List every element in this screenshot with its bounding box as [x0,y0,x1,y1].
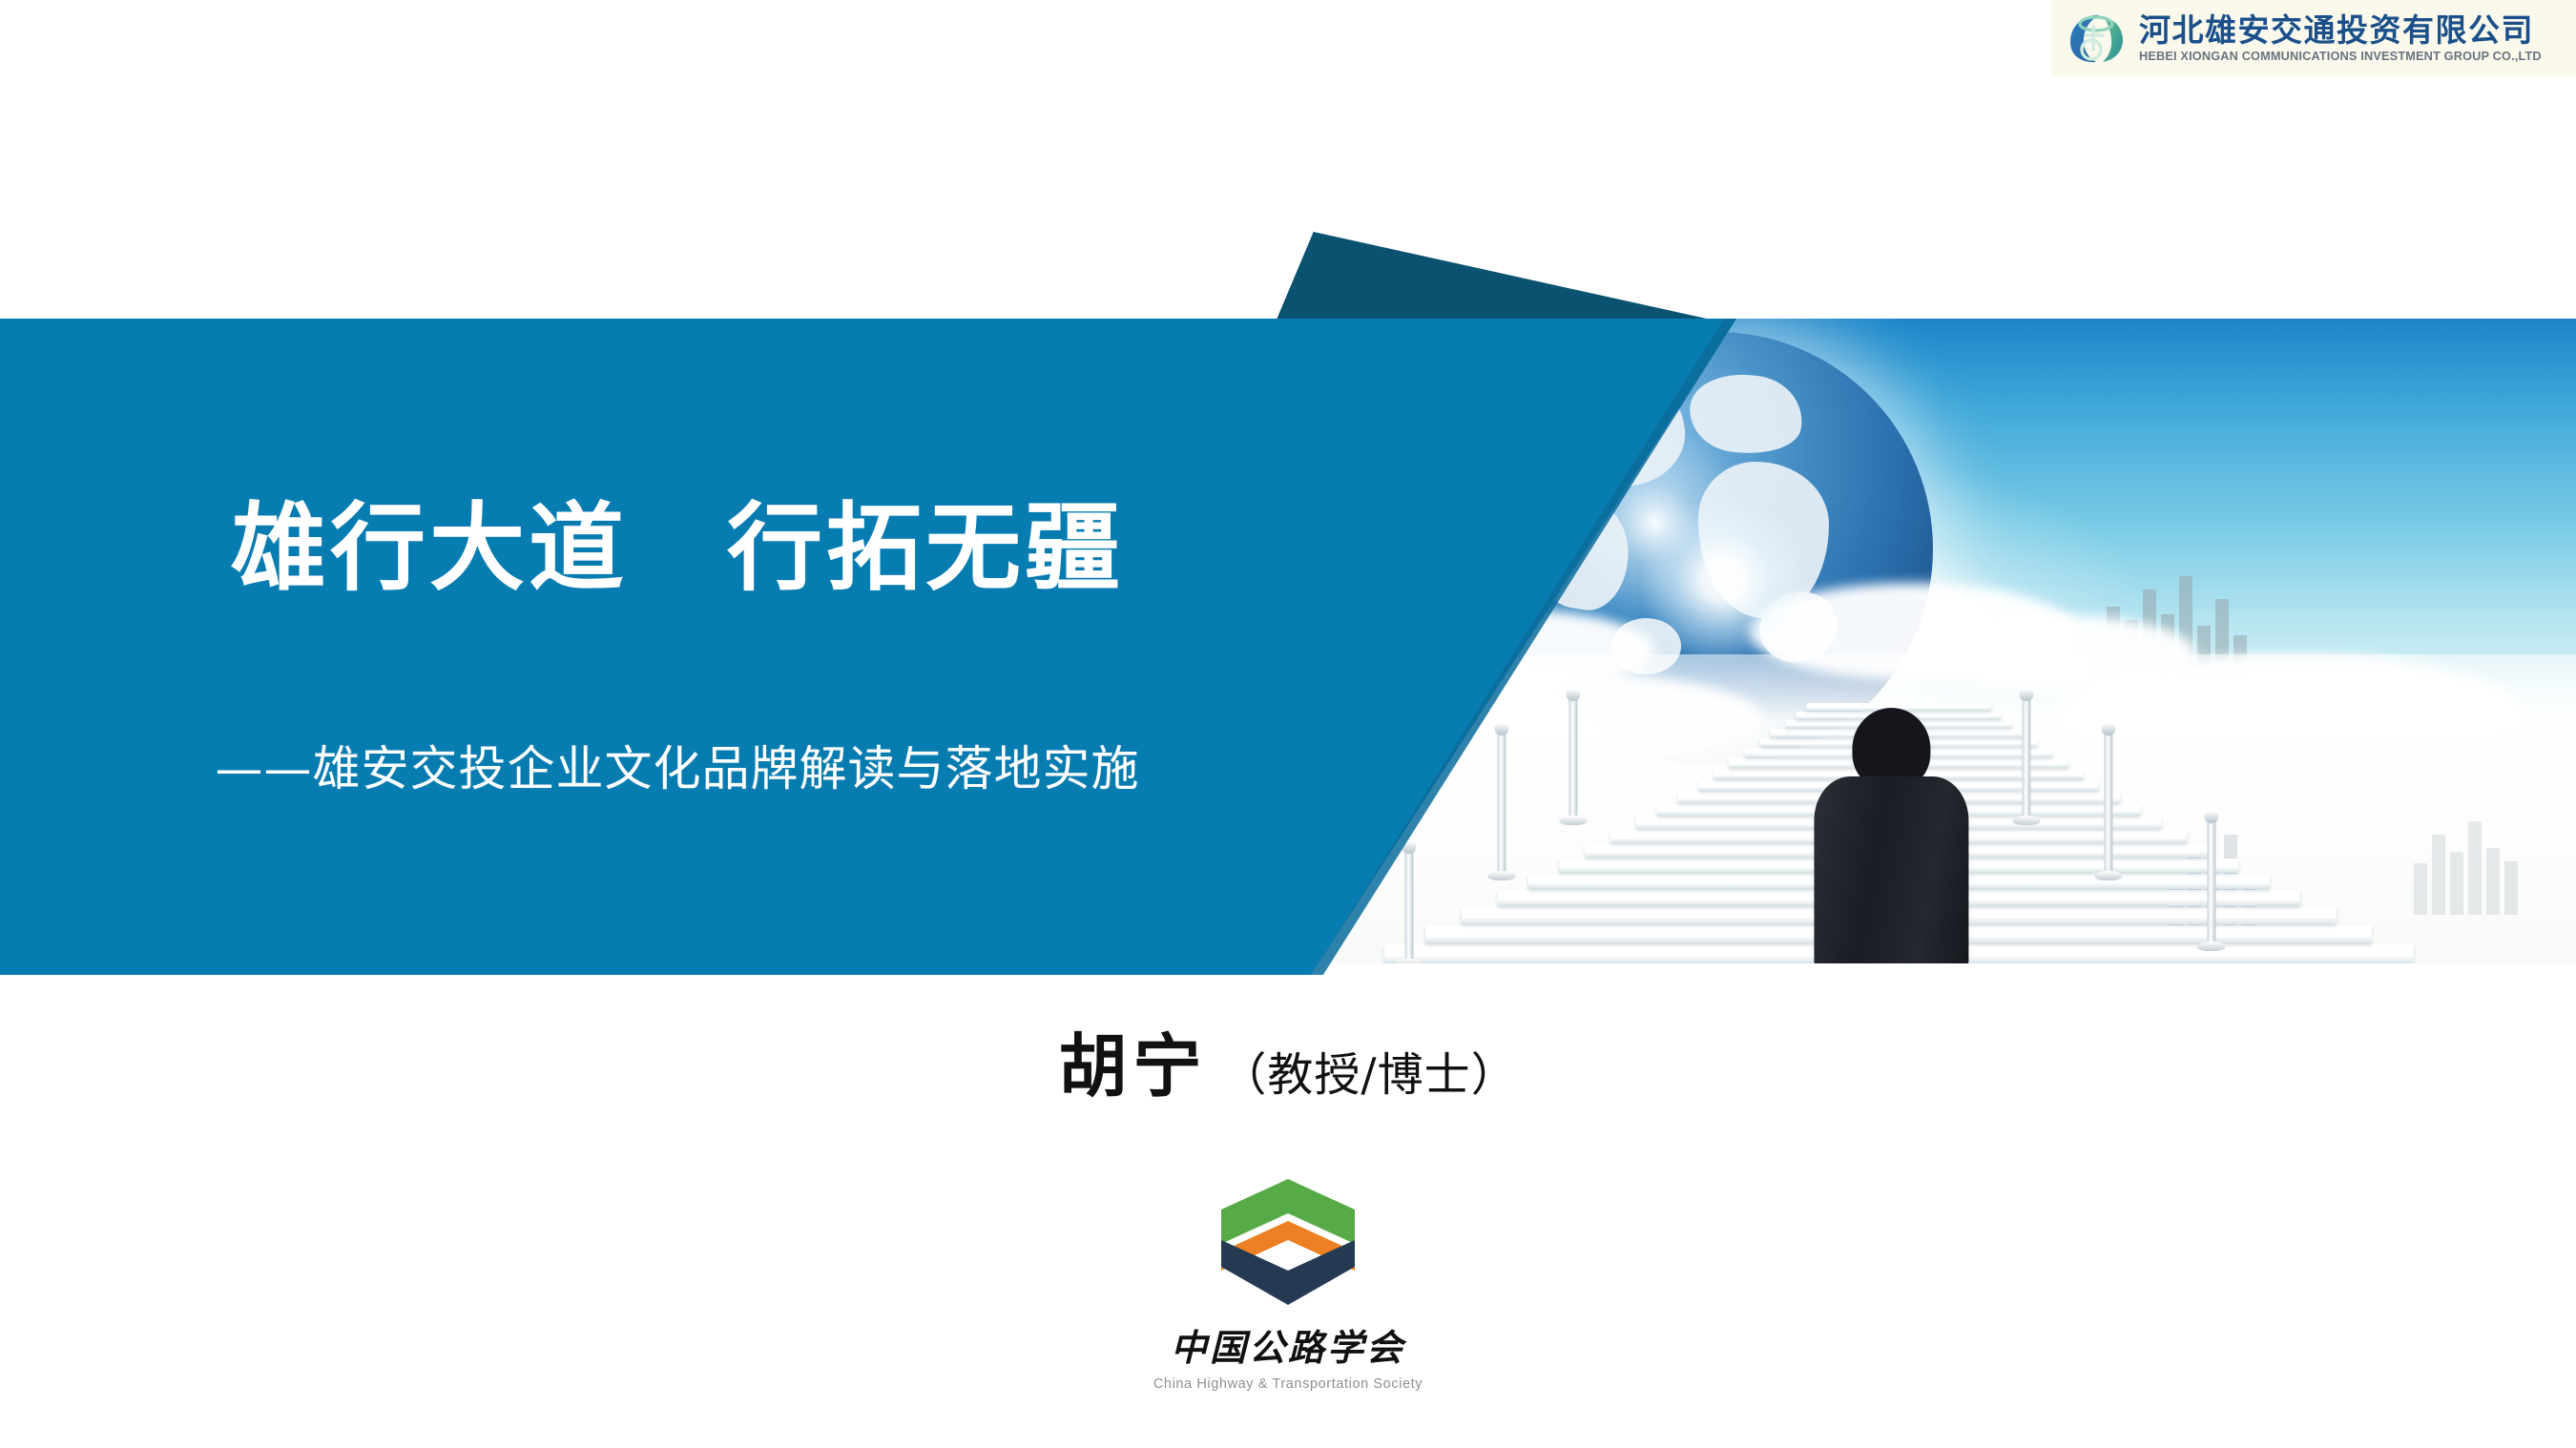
corporate-name-en: HEBEI XIONGAN COMMUNICATIONS INVESTMENT … [2139,51,2542,63]
society-name-cn: 中国公路学会 [1171,1318,1405,1371]
presentation-slide: 河北雄安交通投资有限公司 HEBEI XIONGAN COMMUNICATION… [0,0,2576,1448]
businessman-silhouette [1811,708,1971,963]
lamp-post [2023,698,2031,820]
corporate-logo: 河北雄安交通投资有限公司 HEBEI XIONGAN COMMUNICATION… [2051,0,2576,76]
lamp-post [2105,733,2113,876]
accent-triangle-shape [1277,232,1711,320]
lamp-post [1497,733,1506,876]
corporate-logo-text: 河北雄安交通投资有限公司 HEBEI XIONGAN COMMUNICATION… [2139,14,2534,63]
society-logo: 中国公路学会 China Highway & Transportation So… [1145,1171,1431,1391]
society-name-en: China Highway & Transportation Society [1153,1376,1423,1392]
presenter-line: 胡宁（教授/博士） [0,1032,2576,1101]
corporate-name-cn: 河北雄安交通投资有限公司 [2139,14,2534,46]
lamp-post [1404,851,1413,963]
presenter-name: 胡宁 [1058,1025,1207,1107]
presenter-credential: （教授/博士） [1220,1048,1517,1102]
city-skyline-far-right [2414,821,2518,915]
lamp-post [2208,820,2216,946]
white-staircase [1383,602,2413,963]
hexagon-chevron-mark-icon [1215,1171,1361,1313]
xiongan-globe-mark-icon [2065,10,2128,67]
title-banner [0,319,2576,975]
lamp-post [1569,698,1578,820]
